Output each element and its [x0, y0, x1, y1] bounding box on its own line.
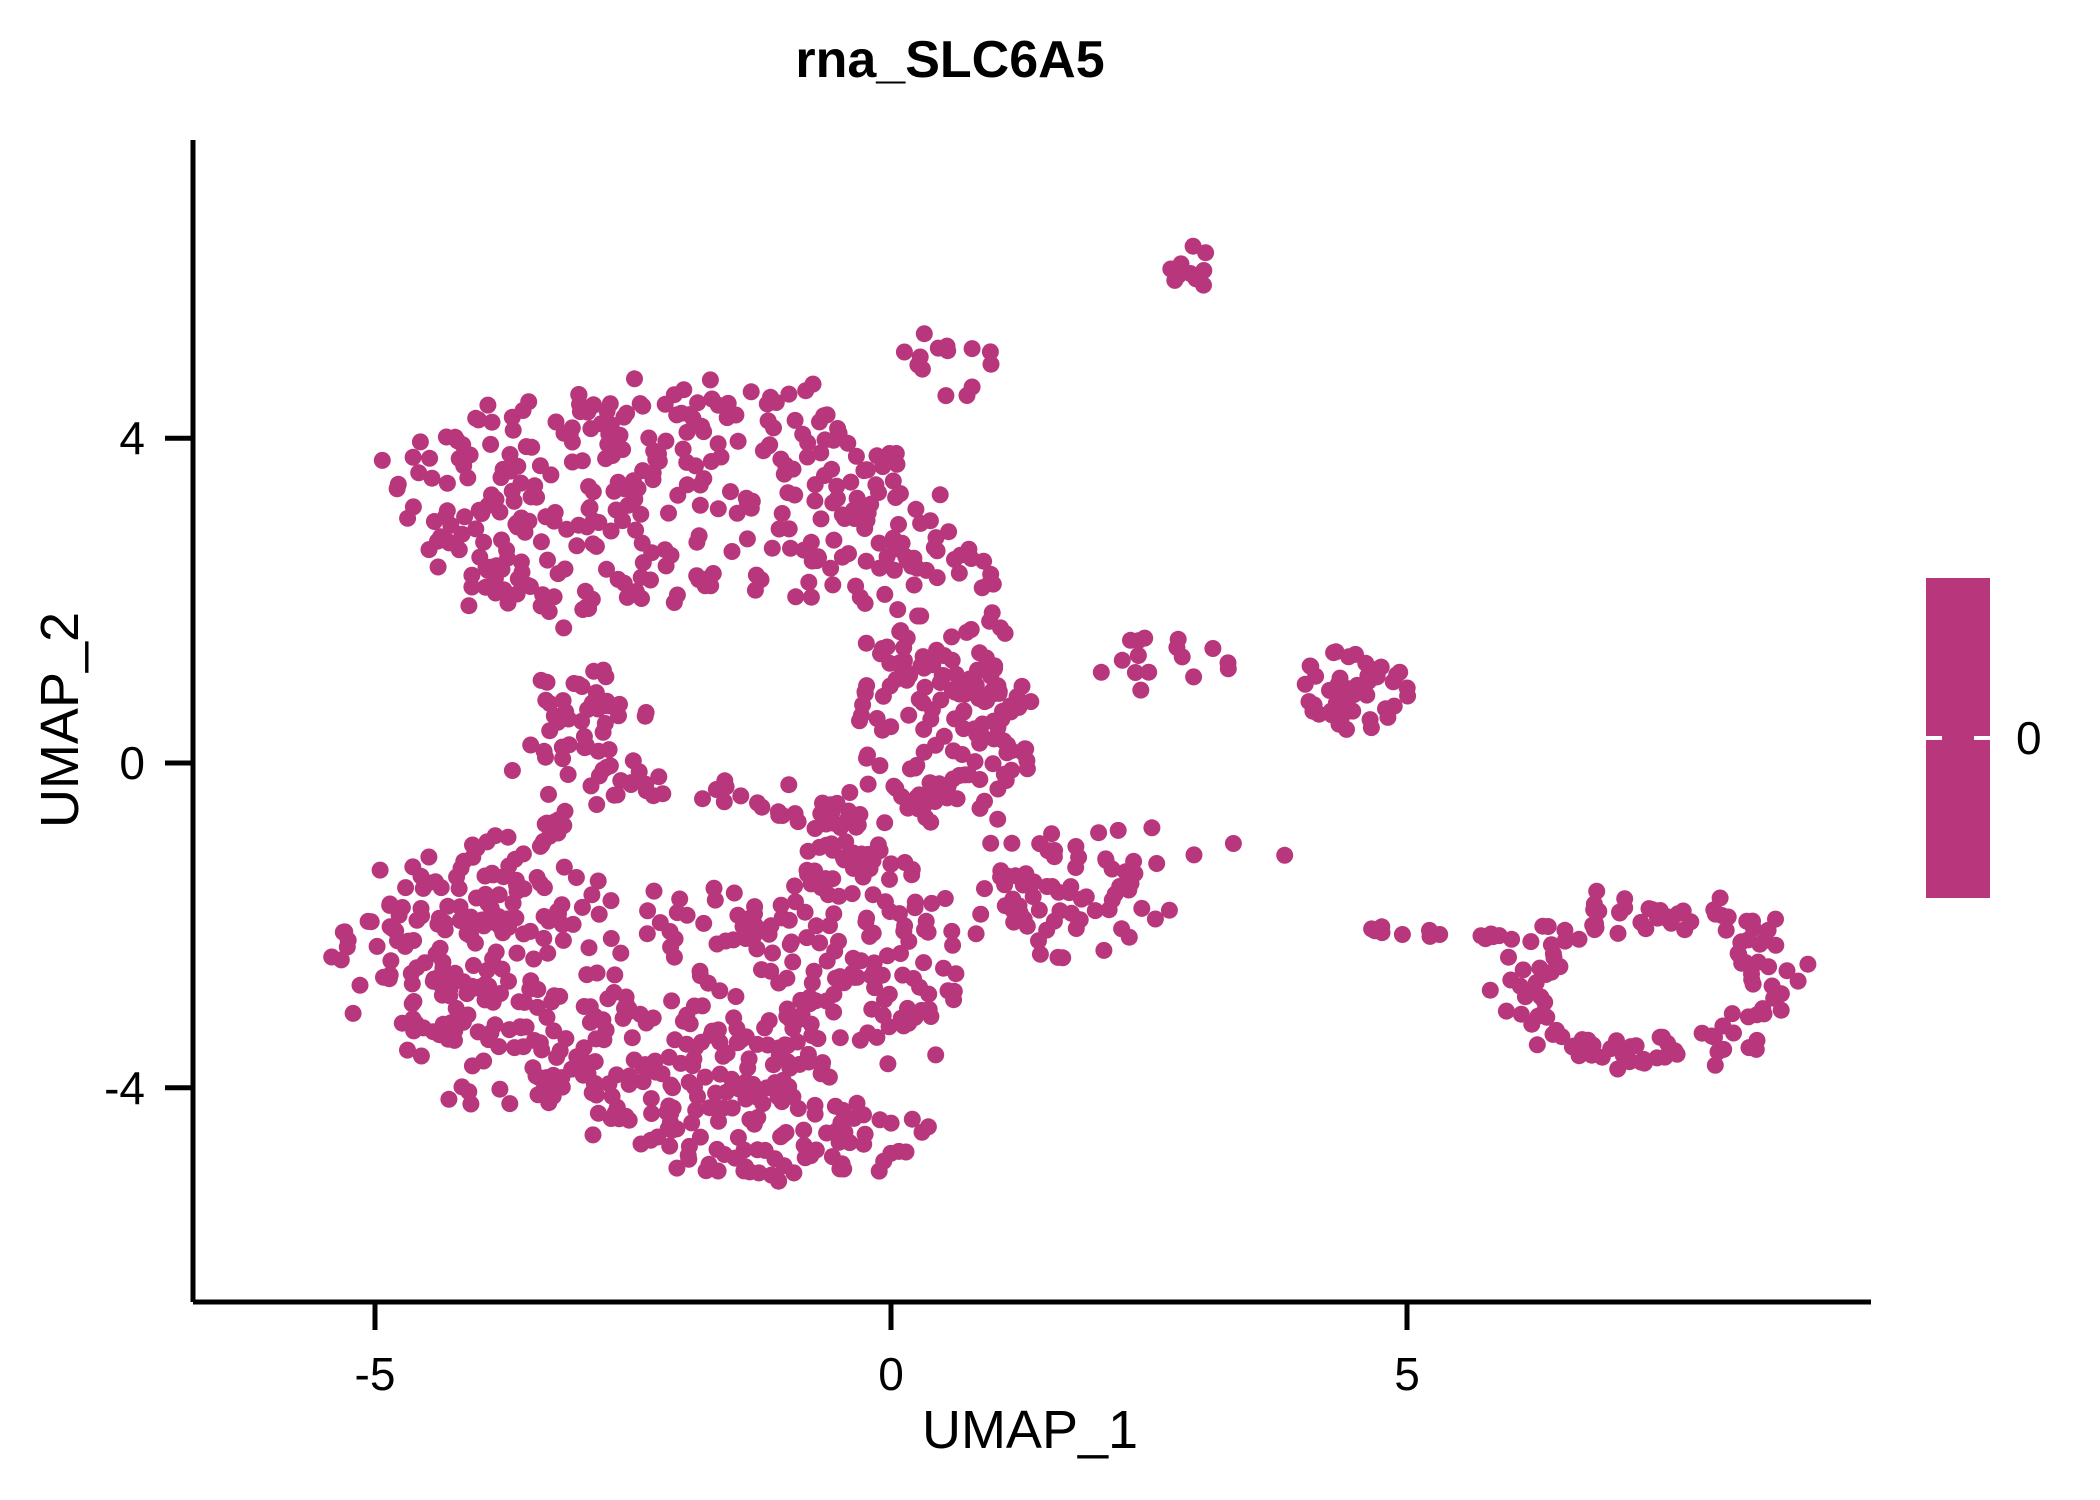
data-point [907, 899, 924, 916]
data-point [827, 970, 844, 987]
data-point [551, 988, 568, 1005]
plot-root: rna_SLC6A5 -505 -404 UMAP_1 UMAP_2 0 [0, 0, 2100, 1500]
data-point [461, 922, 478, 939]
data-point [958, 624, 975, 641]
data-point [1025, 888, 1042, 905]
data-point [484, 865, 501, 882]
data-point [661, 1138, 678, 1155]
data-point [1588, 883, 1605, 900]
data-point [865, 925, 882, 942]
data-point [842, 474, 859, 491]
data-point [336, 923, 353, 940]
data-point [814, 1054, 831, 1071]
data-point [522, 923, 539, 940]
data-point [895, 639, 912, 656]
data-point [1515, 961, 1532, 978]
data-point [1046, 913, 1063, 930]
data-point [1143, 819, 1160, 836]
data-point [464, 1057, 481, 1074]
data-point [787, 893, 804, 910]
data-point [852, 589, 869, 606]
data-point [682, 1015, 699, 1032]
data-point [692, 477, 709, 494]
data-point [780, 386, 797, 403]
data-point [785, 461, 802, 478]
data-point [774, 505, 791, 522]
data-point [541, 828, 558, 845]
data-point [440, 1031, 457, 1048]
data-point [937, 387, 954, 404]
data-point [621, 1068, 638, 1085]
data-point [475, 534, 492, 551]
data-point [638, 704, 655, 721]
data-point [680, 1147, 697, 1164]
data-point [1682, 913, 1699, 930]
data-point [577, 583, 594, 600]
data-point [943, 628, 960, 645]
data-point [688, 534, 705, 551]
x-axis-title: UMAP_1 [922, 1400, 1138, 1460]
data-point [818, 837, 835, 854]
data-point [646, 883, 663, 900]
data-point [710, 435, 727, 452]
data-point [609, 786, 626, 803]
data-point [606, 966, 623, 983]
data-point [824, 1148, 841, 1165]
data-point [1485, 928, 1502, 945]
data-point [470, 1023, 487, 1040]
data-point [1500, 949, 1517, 966]
colorbar-legend[interactable]: 0 [1926, 578, 2042, 898]
data-point [807, 476, 824, 493]
data-point [730, 433, 747, 450]
data-point [915, 954, 932, 971]
data-point [539, 945, 556, 962]
data-point [491, 1081, 508, 1098]
data-point [570, 386, 587, 403]
data-point [972, 800, 989, 817]
data-point [537, 692, 554, 709]
data-point [983, 356, 1000, 373]
data-point [895, 1017, 912, 1034]
data-point [480, 497, 497, 514]
data-point [374, 452, 391, 469]
data-point [1615, 1047, 1632, 1064]
data-point [509, 945, 526, 962]
data-point [633, 569, 650, 586]
data-point [726, 885, 743, 902]
data-point [555, 619, 572, 636]
data-point [554, 916, 571, 933]
data-point [797, 1149, 814, 1166]
data-point [578, 598, 595, 615]
data-point [800, 843, 817, 860]
y-axis-title: UMAP_2 [30, 612, 90, 828]
data-point [865, 886, 882, 903]
data-point [638, 1015, 655, 1032]
data-point [829, 795, 846, 812]
data-point [539, 674, 556, 691]
data-point [1571, 931, 1588, 948]
data-point [935, 667, 952, 684]
data-point [1014, 678, 1031, 695]
data-point [736, 1142, 753, 1159]
data-point [756, 1019, 773, 1036]
x-tick-label: -5 [355, 1348, 396, 1400]
data-point [506, 493, 523, 510]
data-point [666, 949, 683, 966]
data-point [545, 1067, 562, 1084]
data-point [1431, 926, 1448, 943]
data-point [779, 1053, 796, 1070]
data-point [1399, 688, 1416, 705]
data-point [1694, 1025, 1711, 1042]
data-point [809, 1030, 826, 1047]
data-point [775, 1072, 792, 1089]
data-point [1046, 842, 1063, 859]
data-point [858, 553, 875, 570]
data-point [1302, 658, 1319, 675]
data-point [764, 945, 781, 962]
data-point [810, 548, 827, 565]
data-point [579, 518, 596, 535]
data-point [899, 552, 916, 569]
data-point [515, 402, 532, 419]
data-point [399, 1042, 416, 1059]
data-point [790, 813, 807, 830]
data-point [557, 803, 574, 820]
data-point [771, 521, 788, 538]
data-point [770, 1040, 787, 1057]
data-point [579, 404, 596, 421]
data-point [773, 1093, 790, 1110]
data-point [823, 461, 840, 478]
data-point [694, 790, 711, 807]
data-point [552, 1042, 569, 1059]
data-point [1610, 925, 1627, 942]
data-point [1022, 693, 1039, 710]
data-point [533, 533, 550, 550]
data-point [581, 939, 598, 956]
data-point [1148, 855, 1165, 872]
data-point [1749, 1032, 1766, 1049]
data-point [786, 878, 803, 895]
data-point [834, 549, 851, 566]
data-point [675, 441, 692, 458]
data-point [323, 949, 340, 966]
data-point [1332, 713, 1349, 730]
data-point [881, 871, 898, 888]
data-point [806, 492, 823, 509]
data-point [808, 917, 825, 934]
data-point [786, 487, 803, 504]
data-point [739, 1060, 756, 1077]
data-point [811, 934, 828, 951]
data-point [1204, 640, 1221, 657]
data-point [520, 513, 537, 530]
data-point [687, 457, 704, 474]
data-point [969, 662, 986, 679]
data-point [1743, 971, 1760, 988]
data-point [415, 880, 432, 897]
data-point [741, 498, 758, 515]
data-point [920, 986, 937, 1003]
data-point [568, 869, 585, 886]
data-point [479, 962, 496, 979]
data-point [541, 603, 558, 620]
data-point [920, 1118, 937, 1135]
data-point [1170, 631, 1187, 648]
data-point [369, 938, 386, 955]
data-point [1136, 630, 1153, 647]
data-point [1225, 835, 1242, 852]
data-point [416, 954, 433, 971]
data-point [612, 772, 629, 789]
data-point [929, 542, 946, 559]
data-point [830, 888, 847, 905]
data-point [404, 995, 421, 1012]
data-point [1611, 904, 1628, 921]
data-point [1090, 824, 1107, 841]
data-point [602, 395, 619, 412]
data-point [545, 1022, 562, 1039]
data-point [618, 405, 635, 422]
data-point [927, 1046, 944, 1063]
data-point [982, 835, 999, 852]
data-point [1498, 1003, 1515, 1020]
data-point [819, 406, 836, 423]
data-point [476, 888, 493, 905]
y-tick-label: -4 [104, 1062, 145, 1114]
data-point [664, 1079, 681, 1096]
data-point [882, 718, 899, 735]
x-tick-label: 0 [878, 1348, 904, 1400]
data-point [1003, 835, 1020, 852]
data-point [1799, 956, 1816, 973]
data-point [1551, 958, 1568, 975]
data-point [782, 936, 799, 953]
data-point [1760, 958, 1777, 975]
data-point [454, 436, 471, 453]
data-point [892, 622, 909, 639]
data-point [420, 849, 437, 866]
data-point [669, 587, 686, 604]
data-point [507, 910, 524, 927]
data-point [1147, 911, 1164, 928]
data-point [753, 799, 770, 816]
data-point [710, 500, 727, 517]
data-point [845, 950, 862, 967]
data-point [671, 891, 688, 908]
data-point [491, 886, 508, 903]
data-point [642, 1132, 659, 1149]
data-point [463, 579, 480, 596]
data-point [412, 433, 429, 450]
data-point [430, 559, 447, 576]
data-point [1297, 676, 1314, 693]
data-point [360, 913, 377, 930]
data-point [1564, 1038, 1581, 1055]
data-point [553, 896, 570, 913]
data-point [821, 1069, 838, 1086]
data-point [778, 970, 795, 987]
data-point [859, 849, 876, 866]
data-point [493, 532, 510, 549]
data-point [488, 944, 505, 961]
data-point [876, 586, 893, 603]
data-point [1087, 902, 1104, 919]
data-point [413, 907, 430, 924]
data-point [929, 569, 946, 586]
data-point [997, 625, 1014, 642]
data-point [703, 453, 720, 470]
data-point [524, 1059, 541, 1076]
data-point [982, 574, 999, 591]
data-point [846, 969, 863, 986]
data-point [560, 766, 577, 783]
data-point [490, 1038, 507, 1055]
data-point [930, 340, 947, 357]
data-point [912, 515, 929, 532]
data-point [584, 695, 601, 712]
data-point [743, 383, 760, 400]
data-point [784, 953, 801, 970]
data-point [482, 436, 499, 453]
data-point [375, 969, 392, 986]
data-point [742, 920, 759, 937]
data-point [460, 1083, 477, 1100]
data-point [876, 814, 893, 831]
data-point [448, 1000, 465, 1017]
chart-canvas: -505 -404 UMAP_1 UMAP_2 0 [0, 0, 2100, 1500]
data-point [746, 905, 763, 922]
data-point [1328, 643, 1345, 660]
data-point [550, 565, 567, 582]
data-point [585, 535, 602, 552]
data-point [1140, 664, 1157, 681]
data-point [434, 979, 451, 996]
data-point [604, 1088, 621, 1105]
data-point [660, 505, 677, 522]
data-point [906, 577, 923, 594]
data-point [764, 540, 781, 557]
data-point [405, 449, 422, 466]
data-point [702, 371, 719, 388]
data-point [879, 548, 896, 565]
data-point [603, 930, 620, 947]
data-point [492, 919, 509, 936]
data-point [502, 446, 519, 463]
data-point [860, 776, 877, 793]
data-point [404, 975, 421, 992]
data-point [678, 1036, 695, 1053]
data-point [612, 945, 629, 962]
data-point [546, 707, 563, 724]
data-point [501, 1095, 518, 1112]
data-point [896, 917, 913, 934]
data-point [832, 1029, 849, 1046]
data-point [932, 486, 949, 503]
data-point [741, 1163, 758, 1180]
data-point [729, 907, 746, 924]
data-point [900, 707, 917, 724]
data-point [568, 537, 585, 554]
data-point [818, 993, 835, 1010]
data-point [879, 1055, 896, 1072]
data-point [803, 589, 820, 606]
data-point [936, 728, 953, 745]
data-point [1104, 892, 1121, 909]
data-point [1366, 922, 1383, 939]
data-point [554, 750, 571, 767]
data-point [1632, 914, 1649, 931]
data-point [574, 452, 591, 469]
data-point [787, 412, 804, 429]
data-point [770, 803, 787, 820]
data-point [718, 1084, 735, 1101]
data-point [546, 588, 563, 605]
data-point [707, 892, 724, 909]
data-point [618, 1108, 635, 1125]
data-point [594, 1011, 611, 1028]
data-point [352, 977, 369, 994]
data-point [588, 1030, 605, 1047]
data-point [684, 1057, 701, 1074]
data-point [711, 1034, 728, 1051]
data-point [1220, 660, 1237, 677]
data-point [872, 1111, 889, 1128]
data-point [817, 431, 834, 448]
data-point [871, 1163, 888, 1180]
data-point [526, 1032, 543, 1049]
data-point [708, 781, 725, 798]
data-point [762, 389, 779, 406]
data-point [789, 1034, 806, 1051]
data-point [947, 965, 964, 982]
data-point [824, 576, 841, 593]
data-point [639, 902, 656, 919]
data-point [889, 601, 906, 618]
data-point [437, 921, 454, 938]
data-point [459, 469, 476, 486]
data-point [813, 510, 830, 527]
x-tick-label: 5 [1394, 1348, 1420, 1400]
data-point [534, 1083, 551, 1100]
data-point [704, 391, 721, 408]
data-point [990, 677, 1007, 694]
data-point [911, 786, 928, 803]
data-point [440, 1091, 457, 1108]
data-point [936, 647, 953, 664]
data-point [585, 1126, 602, 1143]
data-point [547, 504, 564, 521]
data-point [701, 1156, 718, 1173]
data-point [643, 1090, 660, 1107]
data-point [882, 903, 899, 920]
data-point [824, 870, 841, 887]
data-point [923, 895, 940, 912]
data-point [647, 451, 664, 468]
data-point [438, 429, 455, 446]
data-point [728, 1020, 745, 1037]
data-point [1337, 692, 1354, 709]
data-point [448, 869, 465, 886]
data-point [580, 478, 597, 495]
data-point [753, 571, 770, 588]
data-point [507, 851, 524, 868]
data-point [397, 879, 414, 896]
data-point [905, 970, 922, 987]
